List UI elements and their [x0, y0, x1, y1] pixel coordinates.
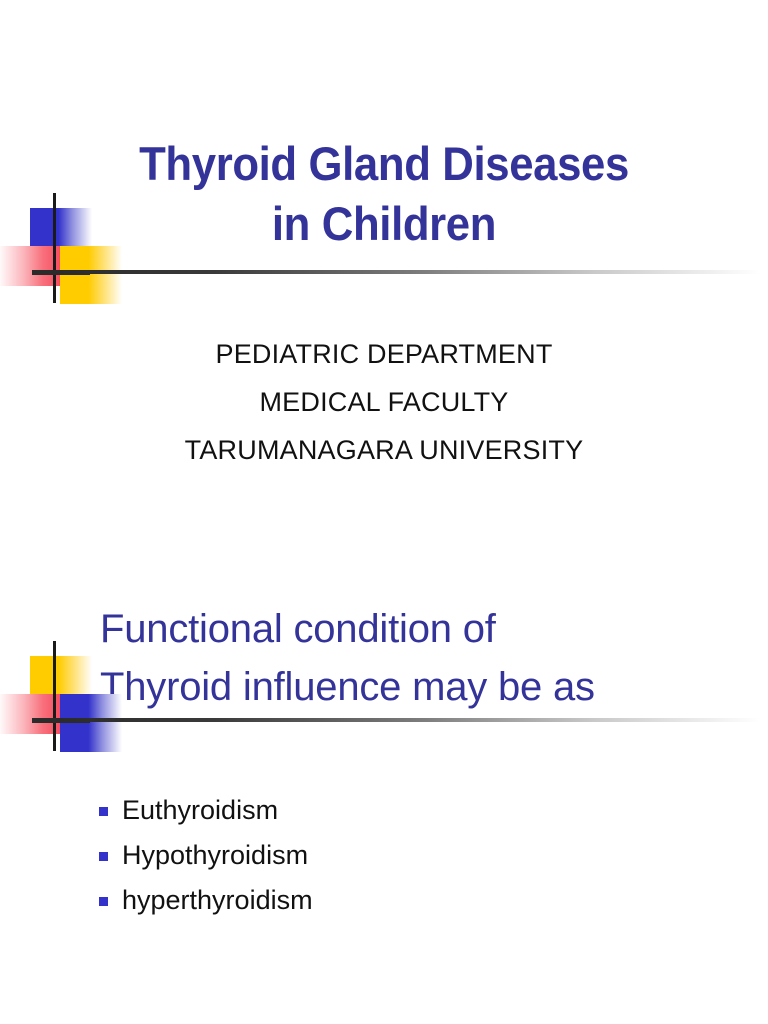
heading-divider-rule — [60, 718, 760, 722]
title-divider-rule — [60, 270, 760, 274]
subtitle-line-2: MEDICAL FACULTY — [0, 378, 768, 426]
title-line-1: Thyroid Gland Diseases — [27, 134, 741, 194]
title-line-2: in Children — [27, 194, 741, 254]
list-item-label: hyperthyroidism — [122, 885, 313, 915]
square-bullet-icon — [99, 807, 108, 816]
subtitle-line-3: TARUMANAGARA UNIVERSITY — [0, 426, 768, 474]
list-item: hyperthyroidism — [96, 878, 716, 923]
subtitle-block: PEDIATRIC DEPARTMENT MEDICAL FACULTY TAR… — [0, 330, 768, 474]
square-bullet-icon — [99, 897, 108, 906]
list-item: Hypothyroidism — [96, 833, 716, 878]
square-bullet-icon — [99, 852, 108, 861]
list-item-label: Euthyroidism — [122, 795, 278, 825]
motif-yellow-square — [60, 246, 122, 304]
heading-line-1: Functional condition of — [100, 600, 740, 658]
list-item-label: Hypothyroidism — [122, 840, 308, 870]
bullet-list: Euthyroidism Hypothyroidism hyperthyroid… — [96, 788, 716, 923]
heading-line-2: Thyroid influence may be as — [100, 658, 740, 716]
page-title: Thyroid Gland Diseases in Children — [0, 134, 768, 254]
slide-title: Thyroid Gland Diseases in Children PEDIA… — [0, 0, 768, 560]
list-item: Euthyroidism — [96, 788, 716, 833]
subtitle-line-1: PEDIATRIC DEPARTMENT — [0, 330, 768, 378]
section-heading: Functional condition of Thyroid influenc… — [100, 600, 740, 716]
